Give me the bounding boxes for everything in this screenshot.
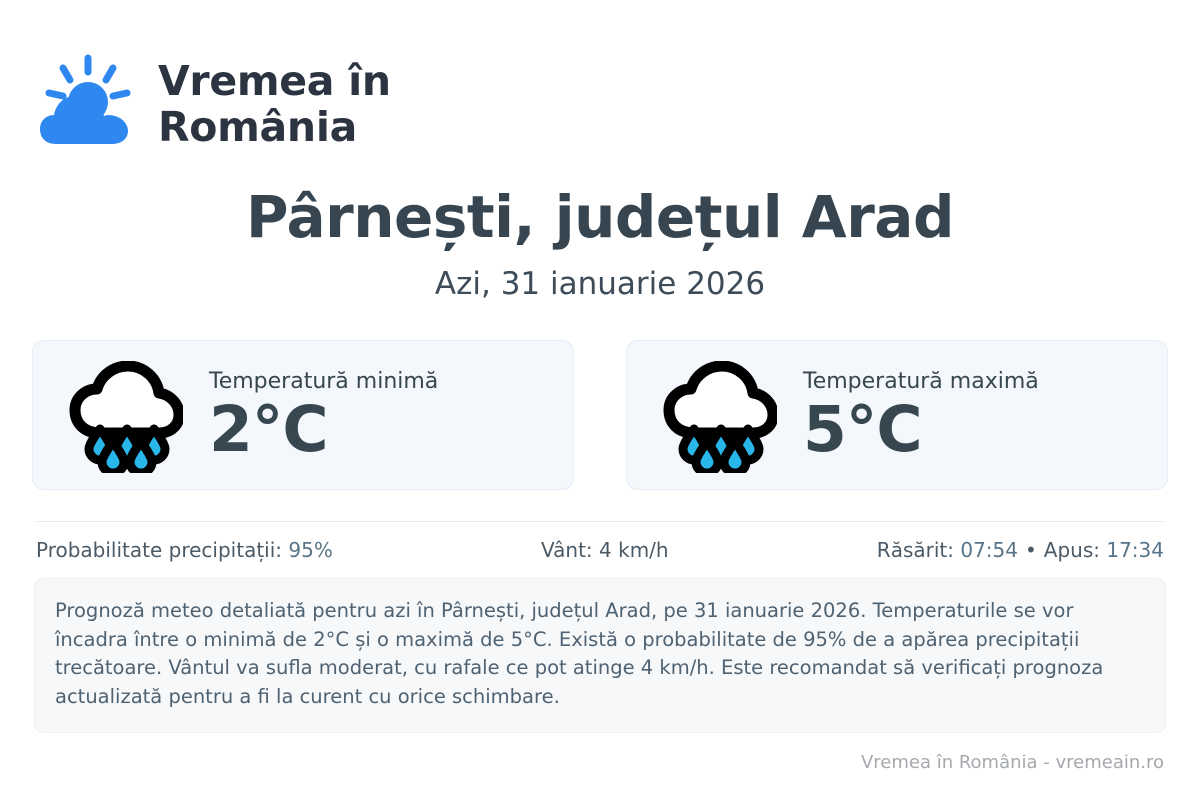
min-temperature-label: Temperatură minimă — [209, 368, 438, 396]
weather-page: Vremea în România Pârnești, județul Arad… — [0, 0, 1200, 800]
min-temperature-body: Temperatură minimă 2°C — [209, 368, 438, 462]
brand-name: Vremea în România — [158, 58, 391, 151]
temperature-cards: Temperatură minimă 2°C — [32, 340, 1168, 490]
footer-credit: Vremea în România - vremeain.ro — [861, 752, 1164, 773]
precipitation-value: 95% — [288, 538, 332, 562]
precipitation-label: Probabilitate precipitații: — [36, 538, 288, 562]
min-temperature-value: 2°C — [209, 398, 438, 462]
weather-stats: Probabilitate precipitații: 95% Vânt: 4 … — [36, 538, 1164, 562]
site-logo[interactable]: Vremea în România — [36, 52, 391, 156]
sunrise-value: 07:54 — [960, 538, 1018, 562]
page-title: Pârnești, județul Arad — [0, 186, 1200, 250]
forecast-description: Prognoză meteo detaliată pentru azi în P… — [34, 578, 1166, 733]
max-temperature-card: Temperatură maximă 5°C — [626, 340, 1168, 490]
separator-dot: • — [1018, 538, 1044, 562]
min-temperature-card: Temperatură minimă 2°C — [32, 340, 574, 490]
sun-times-stat: Răsărit: 07:54•Apus: 17:34 — [877, 538, 1164, 562]
sunset-label: Apus: — [1044, 538, 1107, 562]
stats-divider — [36, 521, 1164, 522]
max-temperature-body: Temperatură maximă 5°C — [803, 368, 1039, 462]
max-temperature-value: 5°C — [803, 398, 1039, 462]
sun-behind-cloud-icon — [36, 52, 140, 156]
sunrise-label: Răsărit: — [877, 538, 961, 562]
precipitation-stat: Probabilitate precipitații: 95% — [36, 538, 333, 562]
wind-stat: Vânt: 4 km/h — [333, 538, 877, 562]
rain-cloud-icon — [67, 361, 183, 469]
rain-cloud-icon — [661, 361, 777, 469]
max-temperature-label: Temperatură maximă — [803, 368, 1039, 396]
sunset-value: 17:34 — [1106, 538, 1164, 562]
page-subtitle: Azi, 31 ianuarie 2026 — [0, 266, 1200, 303]
